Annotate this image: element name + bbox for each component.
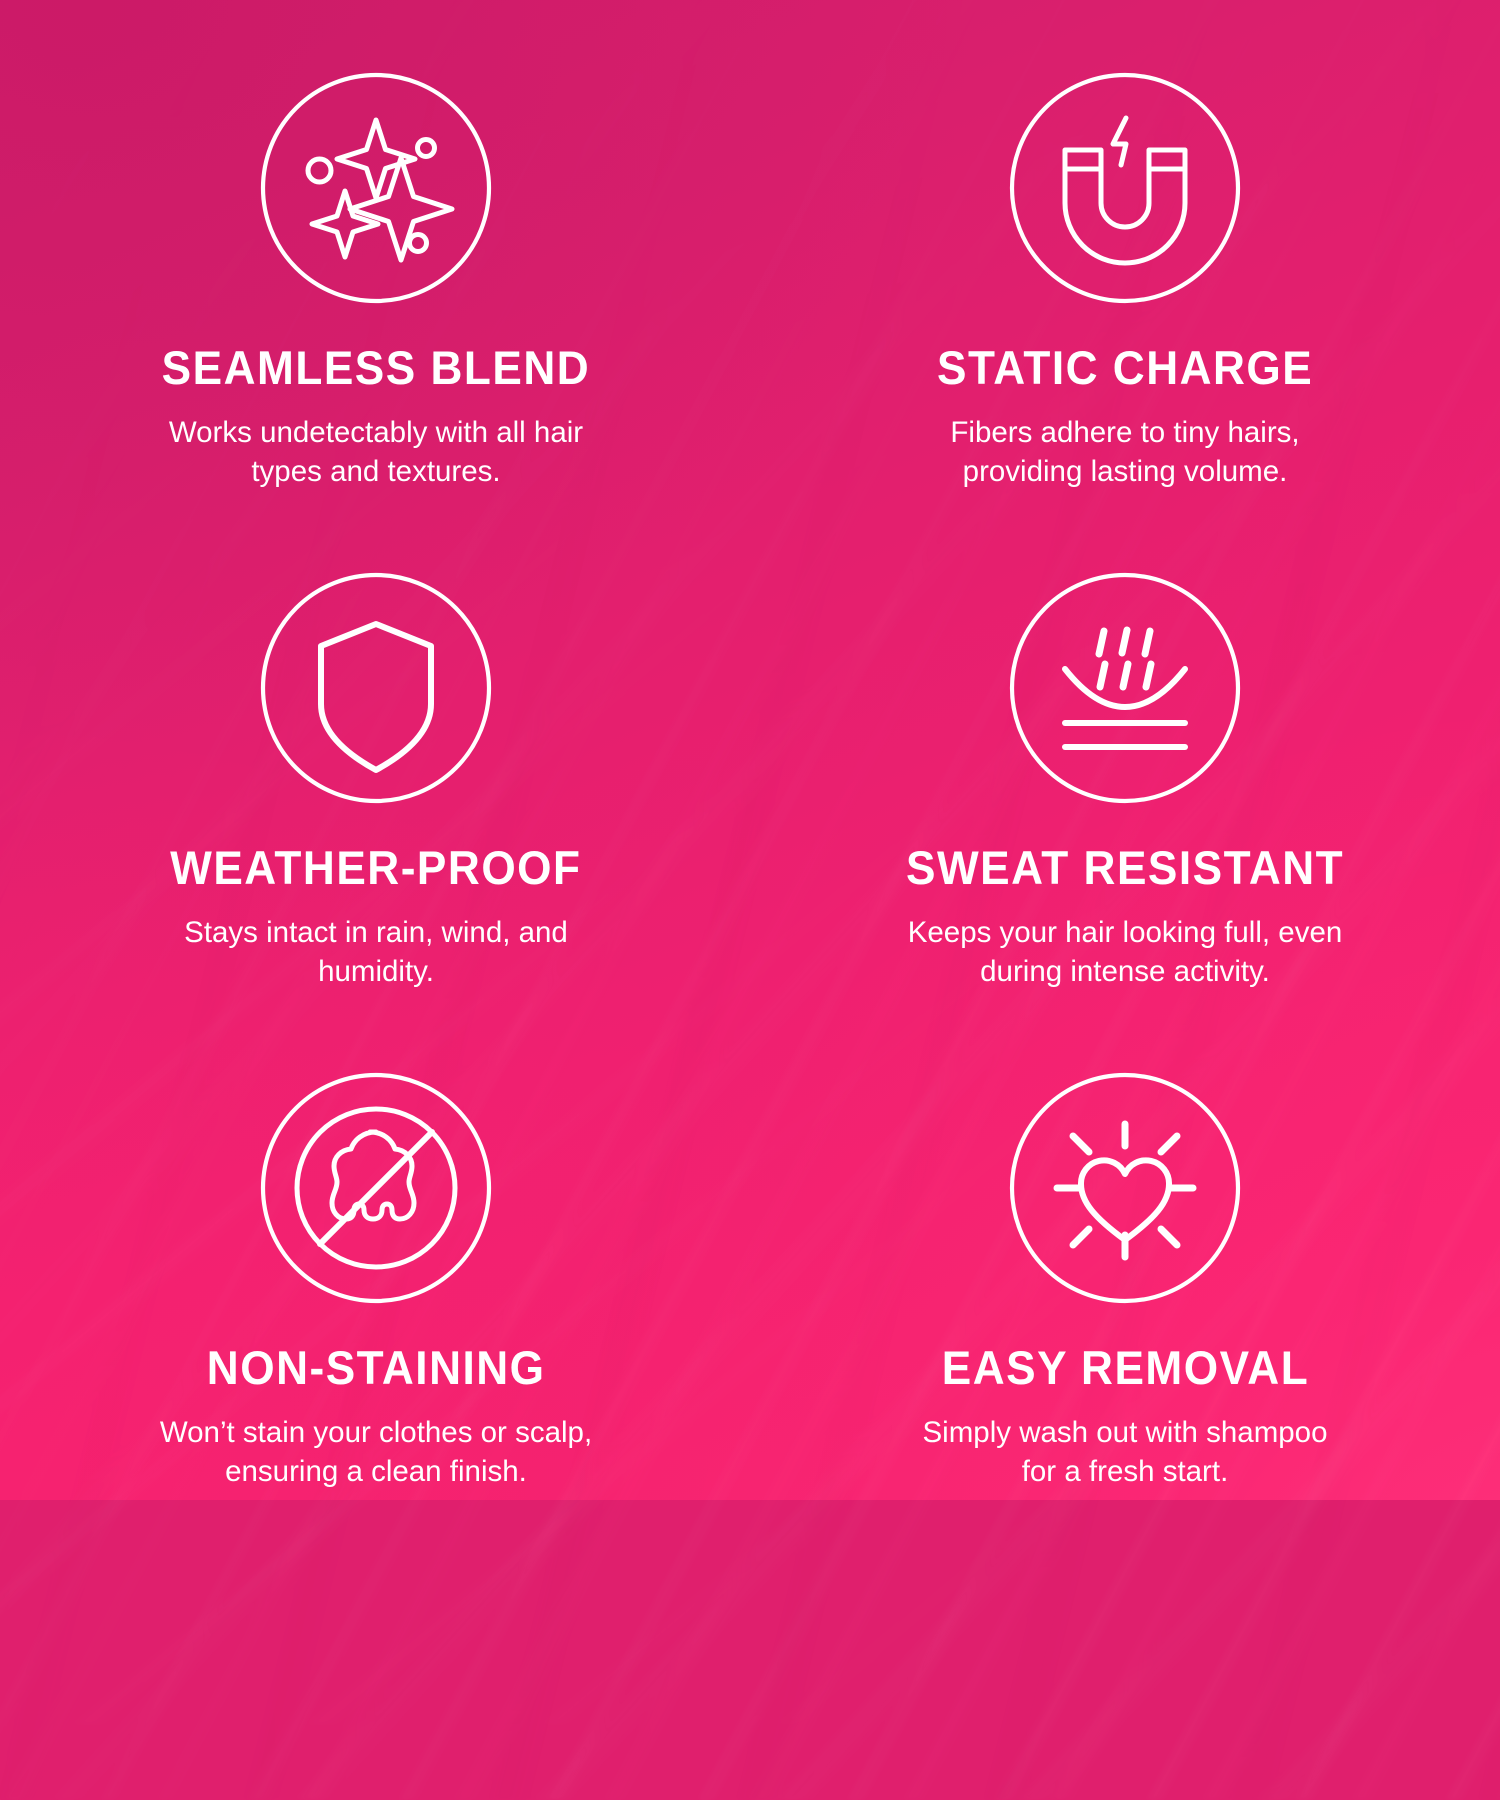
feature-description: Works undetectably with all hair types a… xyxy=(169,413,583,491)
feature-card-sweat-resistant: SWEAT RESISTANT Keeps your hair looking … xyxy=(750,500,1500,1000)
feature-description: Stays intact in rain, wind, and humidity… xyxy=(184,913,568,991)
sparkles-icon xyxy=(260,72,492,304)
feature-title: EASY REMOVAL xyxy=(941,1344,1308,1391)
feature-title: SWEAT RESISTANT xyxy=(906,844,1344,891)
feature-description-line1: Stays intact in rain, wind, and xyxy=(184,916,568,949)
feature-description-line2: humidity. xyxy=(318,955,434,988)
feature-description: Won’t stain your clothes or scalp, ensur… xyxy=(160,1413,592,1491)
feature-title: NON-STAINING xyxy=(207,1344,546,1391)
feature-description: Fibers adhere to tiny hairs, providing l… xyxy=(950,413,1299,491)
feature-card-seamless-blend: SEAMLESS BLEND Works undetectably with a… xyxy=(0,0,750,500)
feature-description-line2: for a fresh start. xyxy=(1022,1455,1229,1488)
feature-title: SEAMLESS BLEND xyxy=(162,344,591,391)
feature-description-line1: Works undetectably with all hair xyxy=(169,416,583,449)
shield-icon xyxy=(260,572,492,804)
magnet-icon xyxy=(1009,72,1241,304)
feature-title: STATIC CHARGE xyxy=(937,344,1313,391)
feature-grid: SEAMLESS BLEND Works undetectably with a… xyxy=(0,0,1500,1500)
feature-description-line2: ensuring a clean finish. xyxy=(225,1455,527,1488)
feature-description-line1: Keeps your hair looking full, even xyxy=(908,916,1343,949)
feature-description-line1: Won’t stain your clothes or scalp, xyxy=(160,1416,592,1449)
feature-description-line2: providing lasting volume. xyxy=(963,455,1288,488)
feature-card-static-charge: STATIC CHARGE Fibers adhere to tiny hair… xyxy=(750,0,1500,500)
feature-description-line1: Fibers adhere to tiny hairs, xyxy=(950,416,1299,449)
no-stain-icon xyxy=(260,1072,492,1304)
feature-card-non-staining: NON-STAINING Won’t stain your clothes or… xyxy=(0,1000,750,1500)
water-repellent-icon xyxy=(1009,572,1241,804)
feature-description-line2: during intense activity. xyxy=(980,955,1270,988)
feature-card-easy-removal: EASY REMOVAL Simply wash out with shampo… xyxy=(750,1000,1500,1500)
feature-title: WEATHER-PROOF xyxy=(170,844,581,891)
feature-description: Keeps your hair looking full, even durin… xyxy=(908,913,1343,991)
feature-description-line1: Simply wash out with shampoo xyxy=(923,1416,1328,1449)
feature-card-weather-proof: WEATHER-PROOF Stays intact in rain, wind… xyxy=(0,500,750,1000)
shining-heart-icon xyxy=(1009,1072,1241,1304)
feature-description-line2: types and textures. xyxy=(251,455,500,488)
feature-description: Simply wash out with shampoo for a fresh… xyxy=(923,1413,1328,1491)
